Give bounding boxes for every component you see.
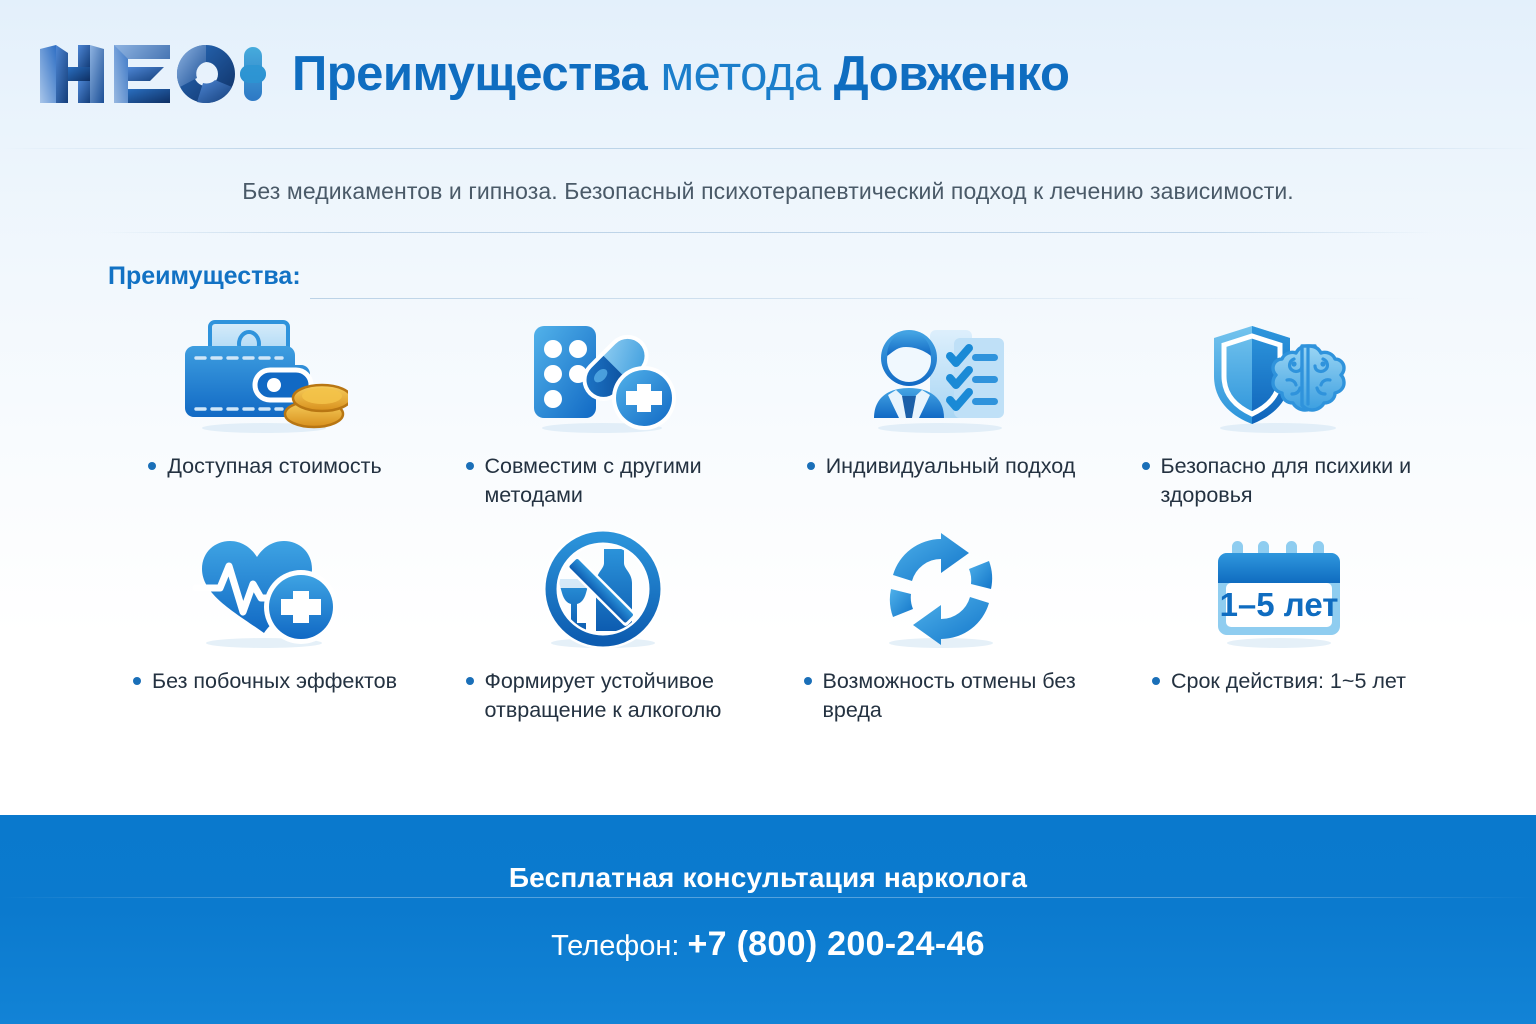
wallet-coins-icon [96, 312, 434, 434]
benefit-label: Доступная стоимость [167, 452, 381, 481]
no-alcohol-icon [434, 527, 772, 649]
section-divider [310, 298, 1436, 299]
doctor-checklist-icon [772, 312, 1110, 434]
benefit-caption: Без побочных эффектов [96, 667, 434, 696]
heart-pulse-plus-icon [96, 527, 434, 649]
benefit-label: Индивидуальный подход [826, 452, 1076, 481]
footer-heading: Бесплатная консультация нарколога [0, 862, 1536, 894]
header-divider [0, 148, 1536, 149]
benefit-caption: Индивидуальный подход [772, 452, 1110, 481]
benefit-item: Доступная стоимость [96, 312, 434, 527]
bullet-icon [1142, 462, 1150, 470]
benefit-caption: Безопасно для психики и здоровья [1110, 452, 1448, 510]
benefit-caption: Срок действия: 1~5 лет [1110, 667, 1448, 696]
benefit-label: Срок действия: 1~5 лет [1171, 667, 1406, 696]
benefit-caption: Формирует устойчивое отвращение к алкого… [434, 667, 772, 725]
benefit-item: 1–5 лет Срок действия: 1~5 лет [1110, 527, 1448, 742]
bullet-icon [466, 677, 474, 685]
subtitle-text: Без медикаментов и гипноза. Безопасный п… [0, 178, 1536, 205]
phone-number[interactable]: +7 (800) 200-24-46 [687, 925, 984, 963]
benefit-caption: Совместим с другими методами [434, 452, 772, 510]
bullet-icon [148, 462, 156, 470]
benefit-item: Без побочных эффектов [96, 527, 434, 742]
page-title-light: метода [660, 47, 820, 101]
bullet-icon [804, 677, 812, 685]
neo-plus-logo [38, 41, 266, 107]
benefit-label: Возможность отмены без вреда [823, 667, 1079, 725]
subtitle-divider [100, 232, 1436, 233]
benefit-label: Формирует устойчивое отвращение к алкого… [485, 667, 741, 725]
footer-phone: Телефон:+7 (800) 200-24-46 [0, 925, 1536, 964]
shield-brain-icon [1110, 312, 1448, 434]
benefit-label: Совместим с другими методами [485, 452, 741, 510]
poster-header: Преимущества метода Довженко [0, 0, 1536, 148]
pills-plus-icon [434, 312, 772, 434]
benefit-caption: Доступная стоимость [96, 452, 434, 481]
footer-banner: Бесплатная консультация нарколога Телефо… [0, 815, 1536, 1024]
phone-label: Телефон: [551, 930, 679, 962]
bullet-icon [807, 462, 815, 470]
bullet-icon [466, 462, 474, 470]
benefit-item: Безопасно для психики и здоровья [1110, 312, 1448, 527]
reversible-arrows-icon [772, 527, 1110, 649]
calendar-duration-icon: 1–5 лет [1110, 527, 1448, 649]
benefit-label: Без побочных эффектов [152, 667, 397, 696]
benefits-grid: Доступная стоимость [96, 312, 1448, 742]
footer-divider [0, 897, 1536, 898]
benefit-caption: Возможность отмены без вреда [772, 667, 1110, 725]
page-title-bold-1: Преимущества [292, 47, 647, 101]
benefit-item: Возможность отмены без вреда [772, 527, 1110, 742]
section-label: Преимущества: [108, 262, 301, 291]
benefit-label: Безопасно для психики и здоровья [1161, 452, 1417, 510]
bullet-icon [133, 677, 141, 685]
calendar-label: 1–5 лет [1220, 586, 1339, 623]
benefit-item: Формирует устойчивое отвращение к алкого… [434, 527, 772, 742]
bullet-icon [1152, 677, 1160, 685]
benefit-item: Совместим с другими методами [434, 312, 772, 527]
page-title-bold-2: Довженко [834, 47, 1070, 101]
poster-canvas: Преимущества метода Довженко Без медикам… [0, 0, 1536, 1024]
benefit-item: Индивидуальный подход [772, 312, 1110, 527]
page-title: Преимущества метода Довженко [292, 50, 1069, 99]
